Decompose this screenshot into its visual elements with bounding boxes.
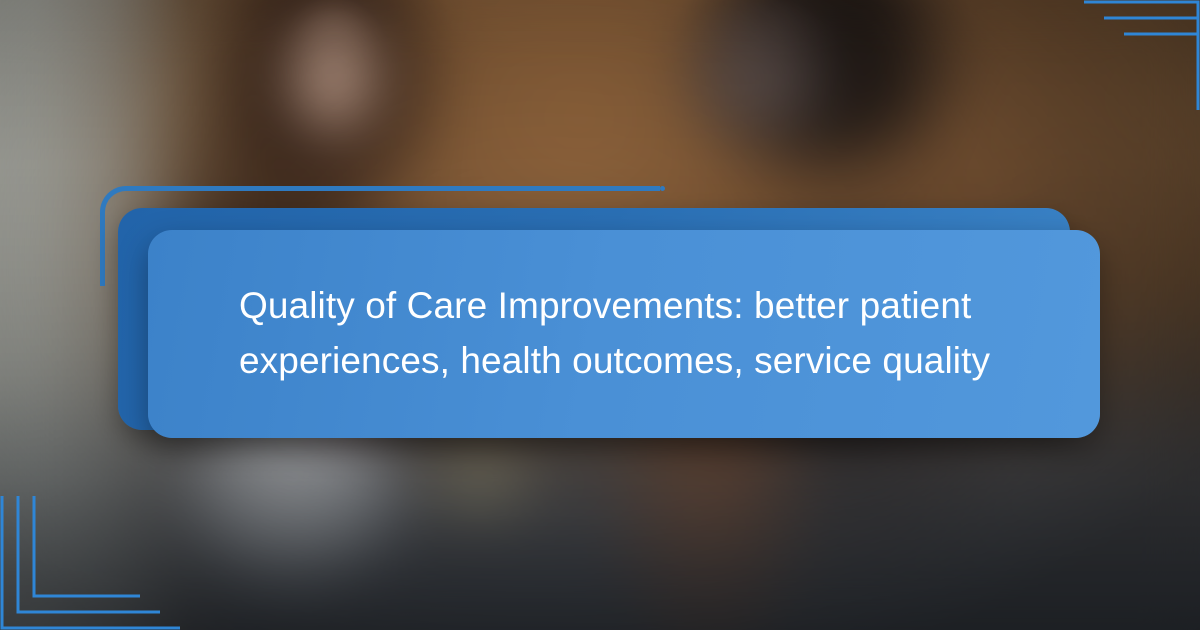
share-card-canvas: Quality of Care Improvements: better pat…	[0, 0, 1200, 630]
page-title: Quality of Care Improvements: better pat…	[239, 279, 1029, 389]
card-front-layer: Quality of Care Improvements: better pat…	[148, 230, 1100, 438]
headline-card-stack: Quality of Care Improvements: better pat…	[100, 186, 1100, 446]
